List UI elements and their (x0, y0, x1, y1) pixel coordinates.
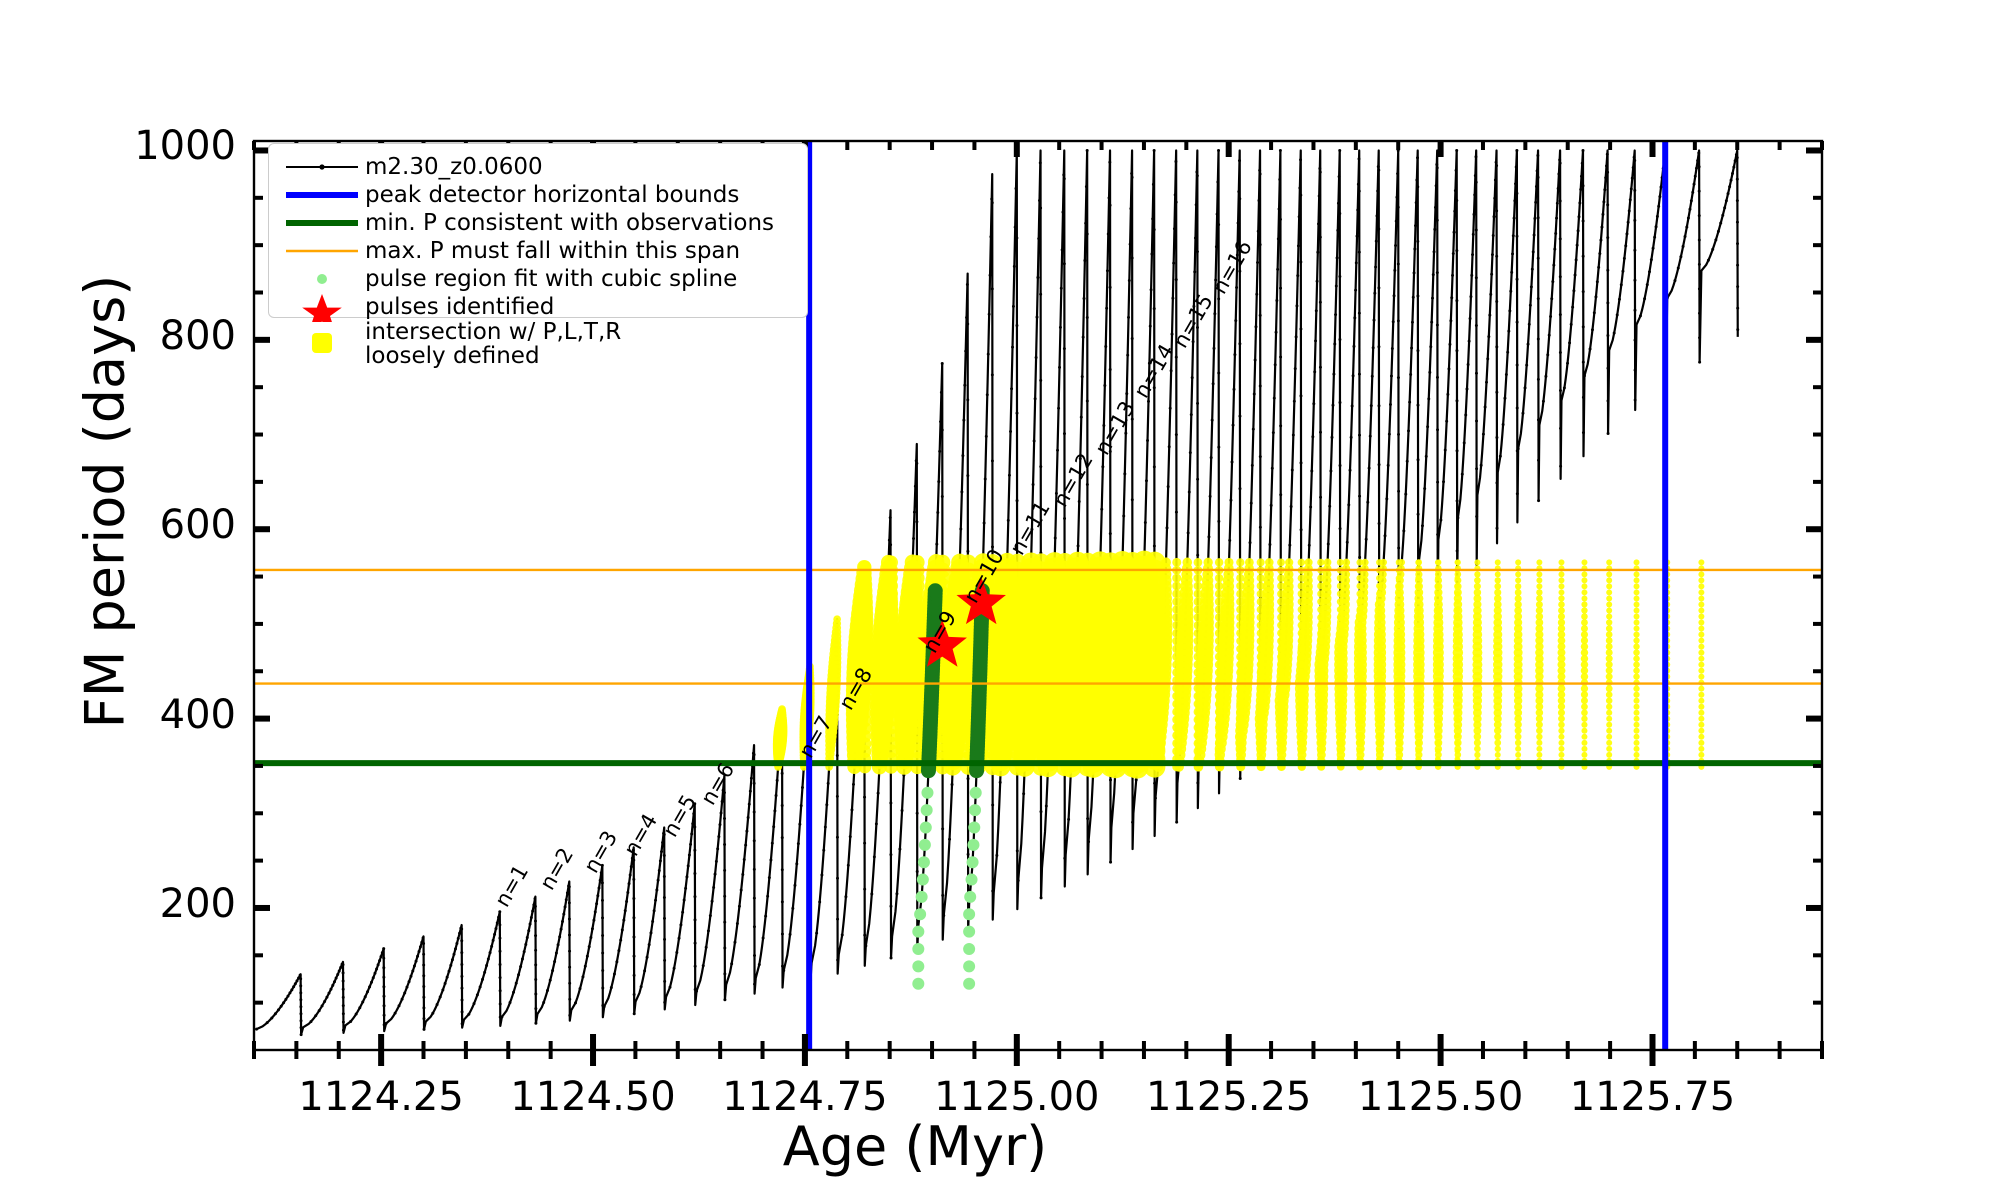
x-tick-label: 1125.50 (1331, 1074, 1551, 1120)
legend-label-spline: pulse region fit with cubic spline (365, 267, 737, 291)
red-star-icon (279, 293, 365, 321)
legend-label-max-span: max. P must fall within this span (365, 239, 740, 263)
green-line-icon (279, 209, 365, 237)
y-tick-label: 400 (160, 692, 236, 738)
legend[interactable]: m2.30_z0.0600 peak detector horizontal b… (268, 143, 808, 318)
y-tick-label: 1000 (134, 123, 236, 169)
legend-label-intersection: intersection w/ P,L,T,R loosely defined (365, 320, 621, 368)
x-tick-label: 1124.25 (271, 1074, 491, 1120)
line-dot-icon (279, 153, 365, 181)
legend-label-peak-bounds: peak detector horizontal bounds (365, 183, 739, 207)
legend-label-model: m2.30_z0.0600 (365, 155, 543, 179)
y-tick-label: 800 (160, 313, 236, 359)
x-tick-label: 1124.75 (695, 1074, 915, 1120)
figure-canvas: FM period (days) Age (Myr) 2004006008001… (0, 0, 2000, 1200)
legend-label-pulses: pulses identified (365, 295, 554, 319)
intersection-markers (773, 551, 1705, 779)
x-tick-label: 1125.25 (1119, 1074, 1339, 1120)
y-tick-label: 600 (160, 502, 236, 548)
legend-label-min-period: min. P consistent with observations (365, 211, 774, 235)
legend-item-max-span[interactable]: max. P must fall within this span (279, 237, 797, 265)
green-dot-icon (279, 265, 365, 293)
legend-item-pulses[interactable]: pulses identified (279, 293, 797, 321)
legend-item-spline[interactable]: pulse region fit with cubic spline (279, 265, 797, 293)
legend-item-model[interactable]: m2.30_z0.0600 (279, 153, 797, 181)
y-tick-label: 200 (160, 881, 236, 927)
legend-item-intersection[interactable]: intersection w/ P,L,T,R loosely defined (279, 321, 797, 367)
yellow-blob-icon (279, 330, 365, 358)
x-tick-label: 1125.75 (1542, 1074, 1762, 1120)
x-tick-label: 1125.00 (907, 1074, 1127, 1120)
legend-item-peak-bounds[interactable]: peak detector horizontal bounds (279, 181, 797, 209)
legend-item-min-period[interactable]: min. P consistent with observations (279, 209, 797, 237)
x-tick-label: 1124.50 (483, 1074, 703, 1120)
orange-line-icon (279, 237, 365, 265)
blue-line-icon (279, 181, 365, 209)
